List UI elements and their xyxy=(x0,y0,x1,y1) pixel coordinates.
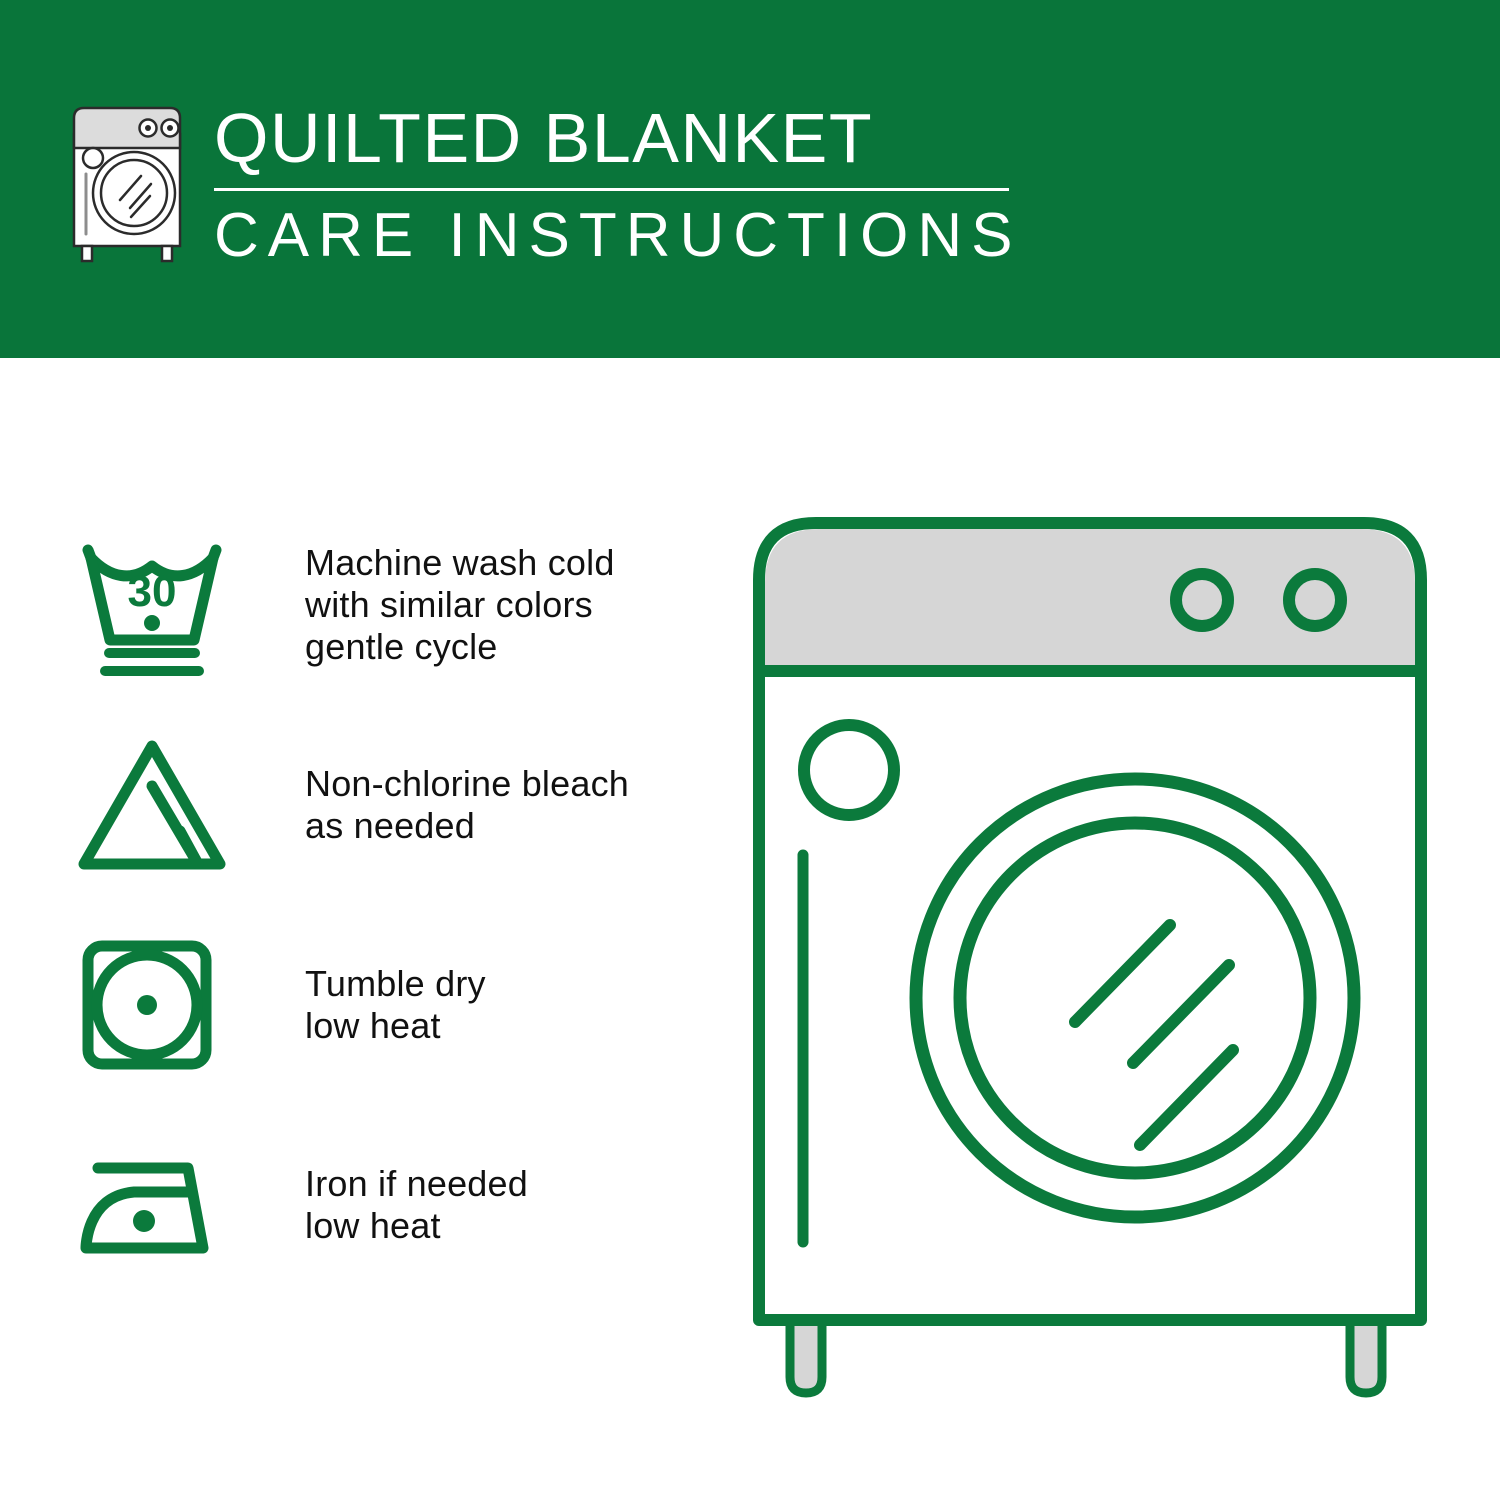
care-label-bleach: Non-chlorine bleach as needed xyxy=(240,763,629,847)
care-row-bleach: Non-chlorine bleach as needed xyxy=(70,705,710,905)
wash-tub-30-gentle-icon: 30 xyxy=(70,525,240,685)
care-label-line: low heat xyxy=(305,1205,528,1247)
care-instruction-list: 30 Machine wash cold with similar colors… xyxy=(70,505,710,1305)
care-label-line: as needed xyxy=(305,805,629,847)
iron-low-heat-icon xyxy=(70,1125,240,1285)
care-label-line: Tumble dry xyxy=(305,963,486,1005)
header-content: QUILTED BLANKET CARE INSTRUCTIONS xyxy=(62,96,1021,271)
care-row-machine-wash: 30 Machine wash cold with similar colors… xyxy=(70,505,710,705)
title-divider xyxy=(214,188,1009,191)
detergent-port xyxy=(804,725,894,815)
tumble-dry-low-icon xyxy=(70,925,240,1085)
wash-temperature-label: 30 xyxy=(128,567,177,616)
door-inner-ring xyxy=(960,823,1310,1173)
page-title: QUILTED BLANKET xyxy=(214,100,1021,176)
care-label-line: Iron if needed xyxy=(305,1163,528,1205)
care-label-line: Non-chlorine bleach xyxy=(305,763,629,805)
washing-machine-icon xyxy=(62,96,192,271)
care-label-line: gentle cycle xyxy=(305,626,615,668)
care-label-line: with similar colors xyxy=(305,584,615,626)
front-load-washing-machine-illustration xyxy=(745,505,1455,1425)
care-label-tumble-dry: Tumble dry low heat xyxy=(240,963,486,1047)
care-row-iron: Iron if needed low heat xyxy=(70,1105,710,1305)
care-instructions-page: QUILTED BLANKET CARE INSTRUCTIONS 30 xyxy=(0,0,1500,1500)
knob-left[interactable] xyxy=(1176,574,1228,626)
care-label-line: low heat xyxy=(305,1005,486,1047)
care-label-iron: Iron if needed low heat xyxy=(240,1163,528,1247)
care-row-tumble-dry: Tumble dry low heat xyxy=(70,905,710,1105)
care-label-line: Machine wash cold xyxy=(305,542,615,584)
page-subtitle: CARE INSTRUCTIONS xyxy=(214,201,1021,271)
non-chlorine-bleach-triangle-icon xyxy=(70,725,240,885)
header-banner: QUILTED BLANKET CARE INSTRUCTIONS xyxy=(0,0,1500,358)
title-block: QUILTED BLANKET CARE INSTRUCTIONS xyxy=(214,96,1021,271)
care-label-machine-wash: Machine wash cold with similar colors ge… xyxy=(240,542,615,668)
knob-right[interactable] xyxy=(1289,574,1341,626)
